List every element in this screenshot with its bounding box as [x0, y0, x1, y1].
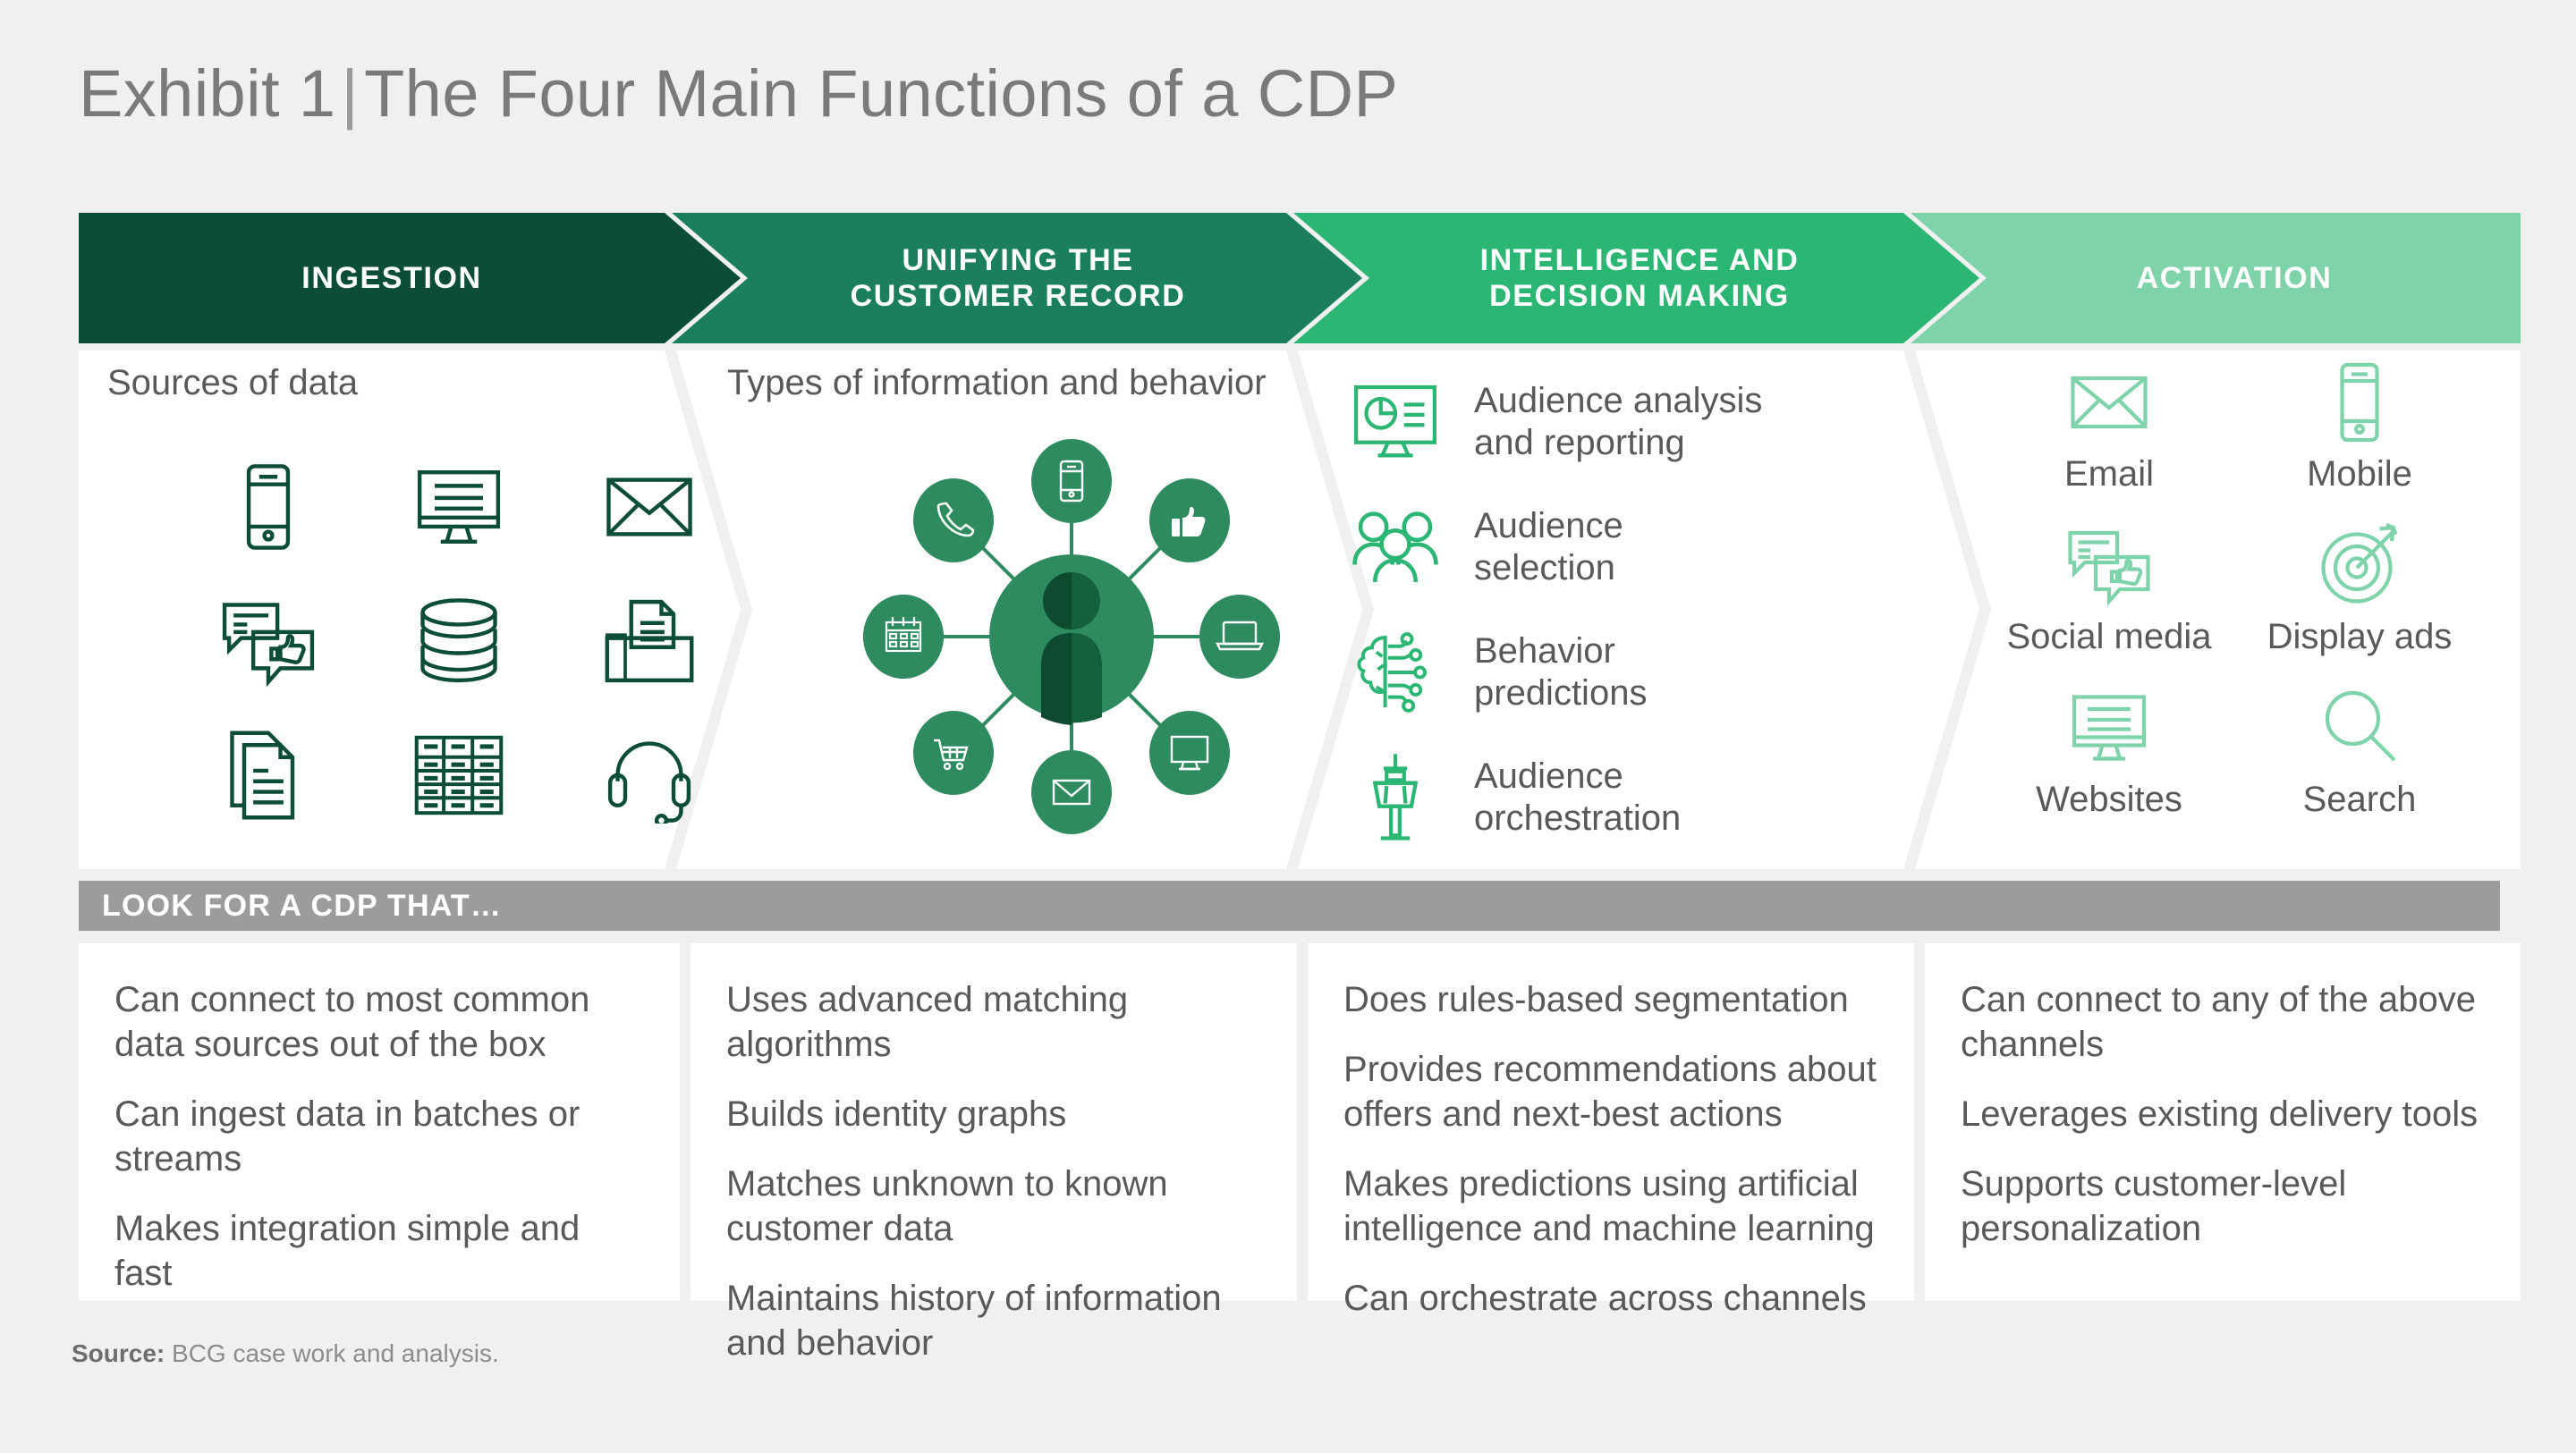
- channel-mobile: Mobile: [2307, 359, 2412, 522]
- unifying-criteria-card: Uses advanced matching algorithms Builds…: [691, 943, 1297, 1301]
- channel-label: Mobile: [2307, 454, 2412, 494]
- list-item: Audience selection: [1349, 485, 1921, 610]
- stage-chevron-unifying: [672, 213, 1362, 343]
- desktop-monitor-icon: [411, 459, 507, 555]
- analytics-monitor-icon: [1349, 376, 1442, 469]
- chat-thumbs-up-icon: [2066, 522, 2152, 608]
- source-label: Source:: [72, 1339, 165, 1367]
- stage-chevron-intelligence: [1293, 213, 1979, 343]
- look-for-band: LOOK FOR A CDP THAT…: [79, 881, 2500, 931]
- stage-chevron-ingestion: [79, 213, 741, 343]
- list-item: Can connect to most common data sources …: [114, 977, 644, 1067]
- magnifier-icon: [2317, 685, 2402, 771]
- list-item-line2: and reporting: [1474, 422, 1762, 464]
- stage-body-band: Sources of data Types of information and…: [79, 351, 2521, 869]
- channel-label: Display ads: [2267, 617, 2453, 657]
- list-item: Does rules-based segmentation: [1343, 977, 1878, 1022]
- list-item: Builds identity graphs: [726, 1092, 1261, 1136]
- list-item: Provides recommendations about offers an…: [1343, 1047, 1878, 1136]
- channel-social-media: Social media: [2006, 522, 2211, 685]
- file-inbox-icon: [601, 593, 698, 689]
- list-item-line1: Audience: [1474, 505, 1623, 547]
- channel-websites: Websites: [2036, 685, 2182, 848]
- envelope-icon: [601, 459, 698, 555]
- documents-icon: [220, 727, 317, 824]
- channel-email: Email: [2064, 359, 2154, 522]
- channel-label: Social media: [2006, 617, 2211, 657]
- envelope-icon: [2066, 359, 2152, 445]
- criteria-cards: Can connect to most common data sources …: [79, 943, 2521, 1301]
- list-item-line2: selection: [1474, 547, 1623, 589]
- source-text: BCG case work and analysis.: [172, 1339, 499, 1367]
- title-separator: |: [335, 56, 364, 131]
- website-monitor-icon: [2066, 685, 2152, 771]
- headset-icon: [601, 727, 698, 824]
- intelligence-criteria-card: Does rules-based segmentation Provides r…: [1308, 943, 1914, 1301]
- stage-header-band: INGESTION UNIFYING THE CUSTOMER RECORD I…: [79, 213, 2521, 343]
- title-exhibit: Exhibit 1: [79, 56, 335, 131]
- intelligence-feature-list: Audience analysis and reporting Audience…: [1349, 359, 1921, 860]
- list-item: Can orchestrate across channels: [1343, 1276, 1878, 1321]
- list-item: Behavior predictions: [1349, 610, 1921, 735]
- database-icon: [411, 593, 507, 689]
- list-item: Audience orchestration: [1349, 735, 1921, 860]
- title-headline: The Four Main Functions of a CDP: [364, 56, 1398, 131]
- activation-criteria-card: Can connect to any of the above channels…: [1925, 943, 2521, 1301]
- sources-icon-grid: [173, 440, 745, 842]
- spreadsheet-icon: [411, 727, 507, 824]
- panel-heading-sources: Sources of data: [107, 363, 358, 403]
- customer-hub-diagram: [821, 422, 1322, 851]
- list-item: Leverages existing delivery tools: [1961, 1092, 2485, 1136]
- page-title: Exhibit 1|The Four Main Functions of a C…: [79, 55, 1398, 131]
- target-arrow-icon: [2317, 522, 2402, 608]
- people-group-icon: [1349, 501, 1442, 594]
- list-item: Uses advanced matching algorithms: [726, 977, 1261, 1067]
- channel-display-ads: Display ads: [2267, 522, 2453, 685]
- mobile-phone-icon: [220, 459, 317, 555]
- list-item: Maintains history of information and beh…: [726, 1276, 1261, 1365]
- mobile-phone-icon: [2317, 359, 2402, 445]
- stage-chevron-activation: [1911, 213, 2521, 343]
- list-item-line1: Behavior: [1474, 630, 1647, 672]
- list-item-line2: orchestration: [1474, 798, 1681, 840]
- list-item: Matches unknown to known customer data: [726, 1162, 1261, 1251]
- look-for-band-label: LOOK FOR A CDP THAT…: [102, 889, 502, 924]
- control-tower-icon: [1349, 751, 1442, 844]
- source-note: Source: BCG case work and analysis.: [72, 1339, 499, 1368]
- chat-thumbs-up-icon: [220, 593, 317, 689]
- list-item-line1: Audience analysis: [1474, 380, 1762, 422]
- channel-label: Email: [2064, 454, 2154, 494]
- brain-circuit-icon: [1349, 626, 1442, 719]
- channel-label: Search: [2303, 780, 2417, 820]
- list-item: Can connect to any of the above channels: [1961, 977, 2485, 1067]
- list-item: Makes predictions using artificial intel…: [1343, 1162, 1878, 1251]
- exhibit-canvas: Exhibit 1|The Four Main Functions of a C…: [0, 0, 2576, 1453]
- list-item: Makes integration simple and fast: [114, 1206, 644, 1296]
- list-item-line1: Audience: [1474, 756, 1681, 798]
- list-item: Audience analysis and reporting: [1349, 359, 1921, 485]
- ingestion-criteria-card: Can connect to most common data sources …: [79, 943, 680, 1301]
- panel-heading-types: Types of information and behavior: [727, 363, 1267, 403]
- list-item-line2: predictions: [1474, 672, 1647, 714]
- list-item: Can ingest data in batches or streams: [114, 1092, 644, 1181]
- channel-search: Search: [2303, 685, 2417, 848]
- channel-label: Websites: [2036, 780, 2182, 820]
- list-item: Supports customer-level personalization: [1961, 1162, 2485, 1251]
- activation-channel-grid: Email Mobile: [1984, 359, 2485, 848]
